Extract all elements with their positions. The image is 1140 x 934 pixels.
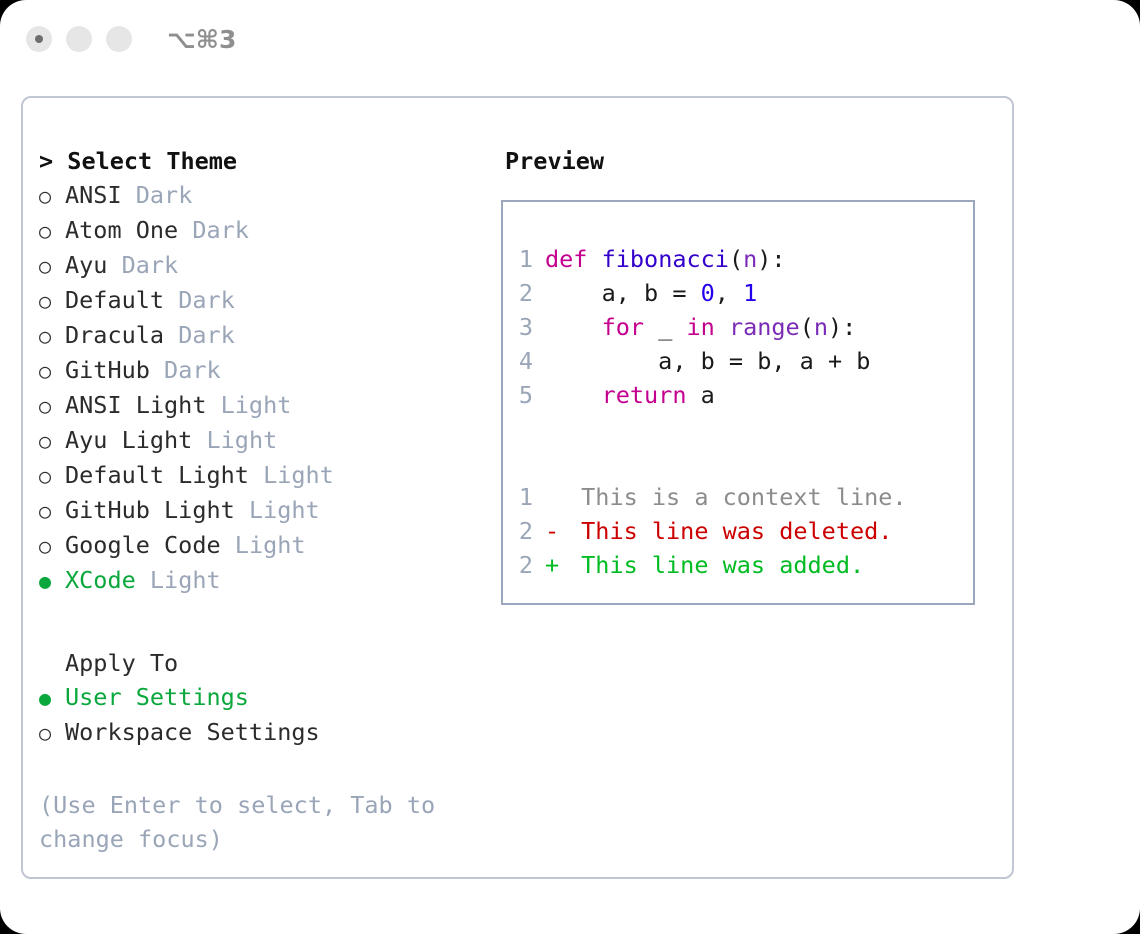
code-token: a [686, 381, 714, 409]
radio-unselected-icon: ○ [39, 529, 65, 563]
panel-columns: > Select Theme ○ANSI Dark○Atom One Dark○… [23, 98, 1012, 856]
preview-column: Preview 1def fibonacci(n):2 a, b = 0, 13… [501, 144, 1012, 856]
theme-selector-column: > Select Theme ○ANSI Dark○Atom One Dark○… [39, 144, 501, 856]
radio-unselected-icon: ○ [39, 716, 65, 750]
diff-marker [545, 480, 567, 514]
theme-variant-tag: Dark [192, 213, 249, 247]
code-token: n [814, 313, 828, 341]
radio-unselected-icon: ○ [39, 214, 65, 248]
theme-variant-tag: Dark [122, 248, 179, 282]
diff-line-number: 2 [503, 514, 545, 548]
theme-option-github-light[interactable]: ○GitHub Light Light [39, 493, 501, 528]
window-dot-active[interactable] [26, 26, 52, 52]
radio-unselected-icon: ○ [39, 284, 65, 318]
theme-name: XCode [65, 563, 136, 597]
radio-unselected-icon: ○ [39, 249, 65, 283]
apply-to-label: User Settings [65, 680, 249, 714]
radio-unselected-icon: ○ [39, 319, 65, 353]
theme-variant-tag: Dark [178, 318, 235, 352]
radio-unselected-icon: ○ [39, 354, 65, 388]
code-token: range [729, 313, 800, 341]
apply-to-option-workspace-settings[interactable]: ○Workspace Settings [39, 715, 501, 750]
window-dot-third[interactable] [106, 26, 132, 52]
diff-line: 2- This line was deleted. [503, 514, 973, 548]
code-token [587, 245, 601, 273]
window-dot-active-inner [35, 35, 43, 43]
theme-variant-tag: Light [249, 493, 320, 527]
preview-box: 1def fibonacci(n):2 a, b = 0, 13 for _ i… [501, 200, 975, 605]
code-line-content: return a [545, 378, 715, 412]
code-line: 1def fibonacci(n): [503, 242, 973, 276]
theme-variant-tag: Dark [136, 178, 193, 212]
theme-option-ayu[interactable]: ○Ayu Dark [39, 248, 501, 283]
code-sample: 1def fibonacci(n):2 a, b = 0, 13 for _ i… [503, 242, 973, 412]
radio-unselected-icon: ○ [39, 179, 65, 213]
theme-gap [221, 528, 235, 562]
code-token [545, 313, 602, 341]
preview-title: Preview [505, 144, 1012, 178]
code-token: 1 [743, 279, 757, 307]
code-token [715, 313, 729, 341]
theme-option-atom-one[interactable]: ○Atom One Dark [39, 213, 501, 248]
radio-unselected-icon: ○ [39, 424, 65, 458]
theme-name: Ayu Light [65, 423, 192, 457]
title-bar: ⌥⌘3 [0, 0, 1140, 78]
code-token: _ [644, 313, 686, 341]
theme-option-google-code[interactable]: ○Google Code Light [39, 528, 501, 563]
theme-gap [206, 388, 220, 422]
theme-list: ○ANSI Dark○Atom One Dark○Ayu Dark○Defaul… [39, 178, 501, 598]
theme-name: Dracula [65, 318, 164, 352]
diff-line-text: This line was deleted. [567, 514, 892, 548]
theme-name: Atom One [65, 213, 178, 247]
apply-to-label: Workspace Settings [65, 715, 320, 749]
diff-marker: + [545, 548, 567, 582]
theme-name: ANSI Light [65, 388, 206, 422]
theme-variant-tag: Light [235, 528, 306, 562]
theme-option-github[interactable]: ○GitHub Dark [39, 353, 501, 388]
code-token: ( [729, 245, 743, 273]
diff-line: 2+ This line was added. [503, 548, 973, 582]
code-line-content: a, b = 0, 1 [545, 276, 757, 310]
code-token: 0 [701, 279, 715, 307]
code-token: a, b = [545, 279, 701, 307]
diff-line-number: 2 [503, 548, 545, 582]
code-token [545, 381, 602, 409]
code-diff-separator-2 [503, 446, 973, 480]
keyboard-hint: (Use Enter to select, Tab to change focu… [39, 788, 459, 856]
theme-option-ayu-light[interactable]: ○Ayu Light Light [39, 423, 501, 458]
theme-gap [249, 458, 263, 492]
code-token: n [743, 245, 757, 273]
theme-gap [136, 563, 150, 597]
code-token: ): [757, 245, 785, 273]
code-line-content: for _ in range(n): [545, 310, 856, 344]
code-line-number: 5 [503, 378, 545, 412]
hint-spacer [39, 750, 501, 788]
theme-gap [192, 423, 206, 457]
code-line: 4 a, b = b, a + b [503, 344, 973, 378]
theme-variant-tag: Light [221, 388, 292, 422]
theme-option-xcode[interactable]: ●XCode Light [39, 563, 501, 598]
theme-gap [235, 493, 249, 527]
theme-option-default-light[interactable]: ○Default Light Light [39, 458, 501, 493]
code-line-number: 4 [503, 344, 545, 378]
theme-option-ansi[interactable]: ○ANSI Dark [39, 178, 501, 213]
code-line-content: a, b = b, a + b [545, 344, 870, 378]
code-line: 2 a, b = 0, 1 [503, 276, 973, 310]
apply-to-header: Apply To [39, 646, 501, 680]
theme-gap [164, 318, 178, 352]
theme-name: Ayu [65, 248, 107, 282]
diff-marker: - [545, 514, 567, 548]
keyboard-shortcut-label: ⌥⌘3 [167, 25, 236, 54]
theme-name: GitHub Light [65, 493, 235, 527]
theme-gap [107, 248, 121, 282]
theme-gap [122, 178, 136, 212]
code-token: fibonacci [602, 245, 729, 273]
code-diff-separator [503, 412, 973, 446]
code-line-number: 2 [503, 276, 545, 310]
app-window: ⌥⌘3 > Select Theme ○ANSI Dark○Atom One D… [0, 0, 1140, 934]
theme-name: Google Code [65, 528, 221, 562]
window-dot-second[interactable] [66, 26, 92, 52]
code-line-number: 3 [503, 310, 545, 344]
apply-to-options: ●User Settings○Workspace Settings [39, 680, 501, 750]
theme-variant-tag: Dark [164, 353, 221, 387]
theme-gap [164, 283, 178, 317]
theme-variant-tag: Light [263, 458, 334, 492]
code-line: 3 for _ in range(n): [503, 310, 973, 344]
code-token: def [545, 245, 587, 273]
radio-unselected-icon: ○ [39, 494, 65, 528]
code-line-content: def fibonacci(n): [545, 242, 786, 276]
select-theme-header: > Select Theme [39, 144, 501, 178]
apply-to-option-user-settings[interactable]: ●User Settings [39, 680, 501, 715]
diff-sample: 1 This is a context line.2- This line wa… [503, 480, 973, 582]
theme-name: Default [65, 283, 164, 317]
theme-option-ansi-light[interactable]: ○ANSI Light Light [39, 388, 501, 423]
radio-selected-icon: ● [39, 681, 65, 715]
radio-unselected-icon: ○ [39, 389, 65, 423]
theme-option-default[interactable]: ○Default Dark [39, 283, 501, 318]
diff-line-text: This line was added. [567, 548, 864, 582]
theme-gap [150, 353, 164, 387]
diff-line: 1 This is a context line. [503, 480, 973, 514]
radio-selected-icon: ● [39, 564, 65, 598]
theme-option-dracula[interactable]: ○Dracula Dark [39, 318, 501, 353]
theme-name: Default Light [65, 458, 249, 492]
code-token: , [715, 279, 743, 307]
code-token: ): [828, 313, 856, 341]
theme-gap [178, 213, 192, 247]
code-token: for [602, 313, 644, 341]
diff-line-number: 1 [503, 480, 545, 514]
radio-unselected-icon: ○ [39, 459, 65, 493]
theme-name: ANSI [65, 178, 122, 212]
main-panel: > Select Theme ○ANSI Dark○Atom One Dark○… [21, 96, 1014, 879]
theme-variant-tag: Dark [178, 283, 235, 317]
code-line-number: 1 [503, 242, 545, 276]
code-token: ( [800, 313, 814, 341]
window-controls [26, 26, 132, 52]
code-line: 5 return a [503, 378, 973, 412]
code-token: a, b = b, a + b [545, 347, 870, 375]
code-token: in [687, 313, 715, 341]
theme-name: GitHub [65, 353, 150, 387]
theme-variant-tag: Light [150, 563, 221, 597]
diff-line-text: This is a context line. [567, 480, 907, 514]
code-token: return [602, 381, 687, 409]
theme-apply-spacer [39, 598, 501, 646]
theme-variant-tag: Light [207, 423, 278, 457]
